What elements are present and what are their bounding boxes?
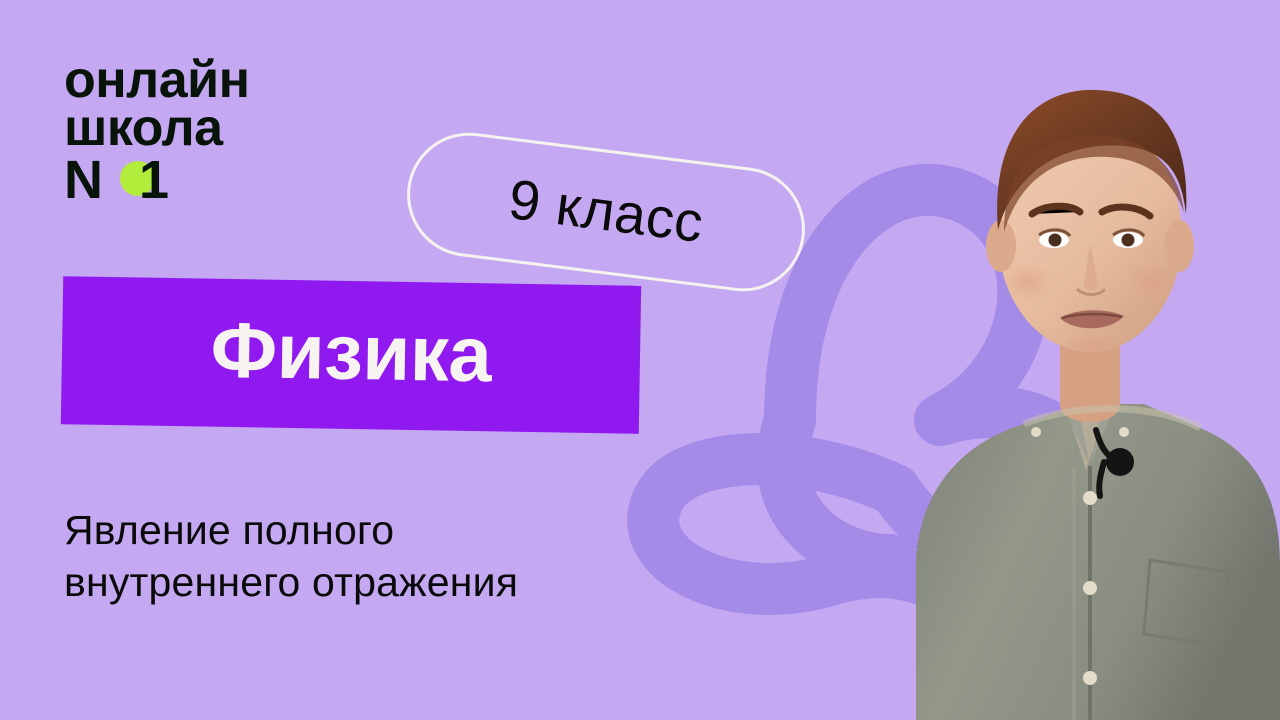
presenter-shirt bbox=[916, 404, 1280, 720]
lesson-title: Явление полного внутреннего отражения bbox=[64, 504, 744, 609]
shirt-pocket bbox=[1144, 560, 1228, 646]
lesson-title-line-2: внутреннего отражения bbox=[64, 556, 744, 608]
logo-one-digit: 1 bbox=[139, 150, 168, 210]
collar-button bbox=[1119, 427, 1129, 437]
subject-banner-label: Физика bbox=[210, 304, 492, 400]
lesson-title-slide: онлайн школа N1 9 класс Физика Явление п… bbox=[0, 0, 1280, 720]
subject-banner: Физика bbox=[61, 276, 641, 434]
presenter-photo bbox=[828, 0, 1280, 720]
lavalier-microphone-icon bbox=[1096, 430, 1134, 496]
presenter-face bbox=[998, 120, 1182, 352]
brand-logo: онлайн школа N1 bbox=[64, 56, 404, 205]
logo-line-number-one: N1 bbox=[64, 155, 168, 205]
logo-line-school: школа bbox=[64, 104, 404, 152]
logo-n-letter: N bbox=[64, 150, 102, 210]
presenter-hair bbox=[997, 90, 1186, 230]
grade-badge-label: 9 класс bbox=[505, 166, 707, 255]
shirt-button bbox=[1083, 491, 1097, 505]
shirt-button bbox=[1083, 581, 1097, 595]
logo-line-online: онлайн bbox=[64, 56, 404, 104]
lesson-title-line-1: Явление полного bbox=[64, 504, 744, 556]
collar-button bbox=[1031, 427, 1041, 437]
shirt-button bbox=[1083, 671, 1097, 685]
grade-badge: 9 класс bbox=[400, 125, 812, 298]
